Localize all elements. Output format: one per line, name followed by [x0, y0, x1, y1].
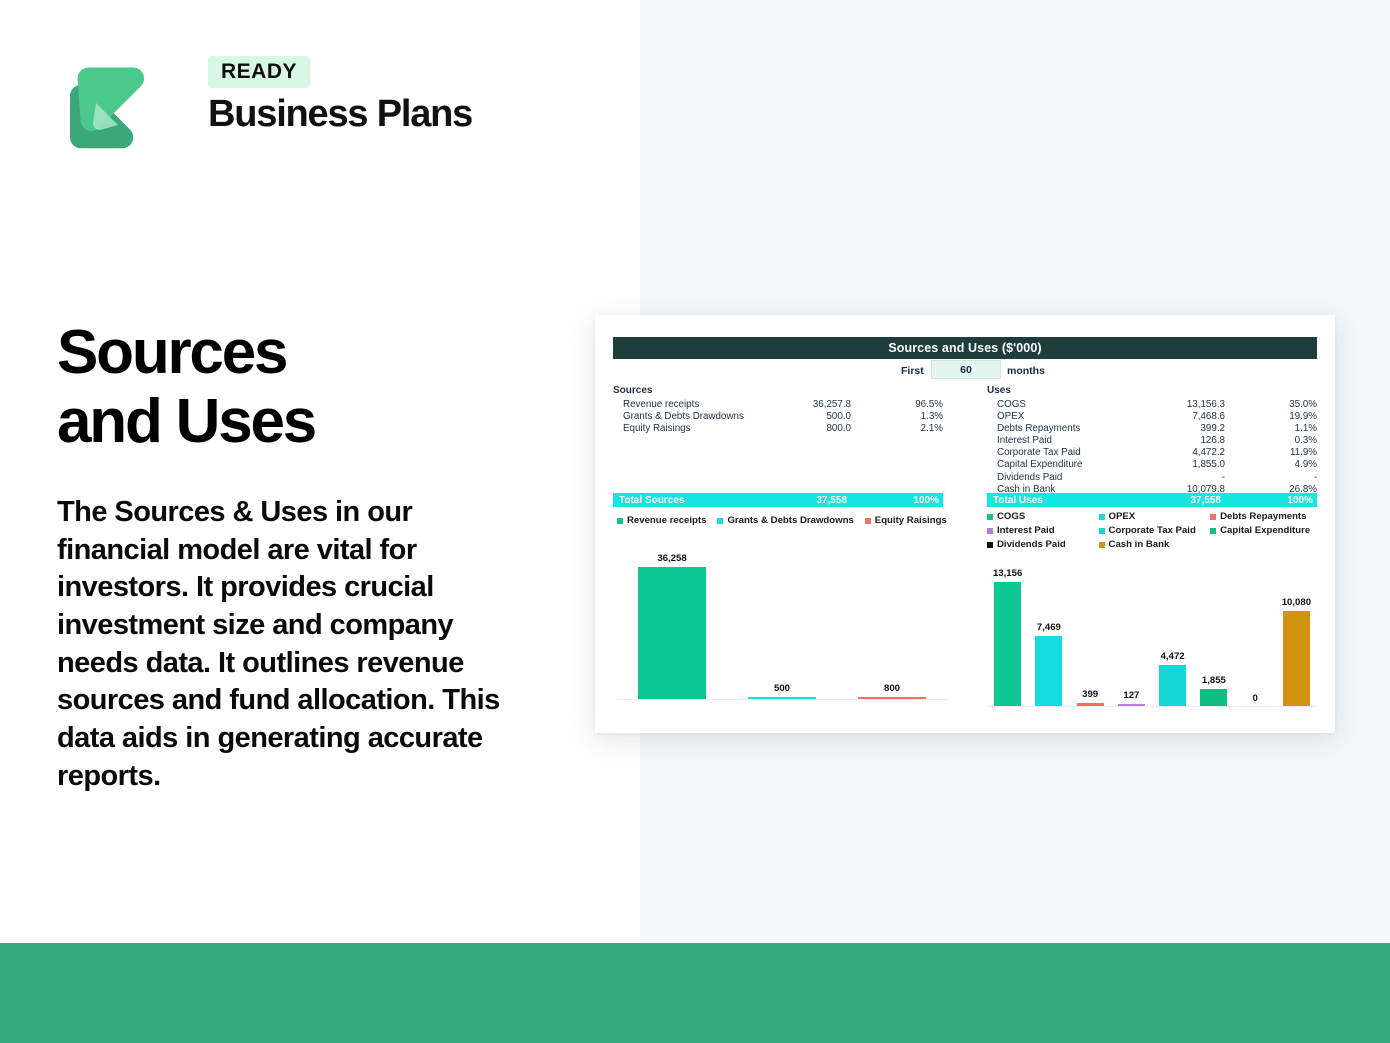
legend-swatch-icon [987, 528, 993, 534]
total-sources-row: Total Sources 37,558 100% [613, 493, 943, 507]
bar-column: 800 [837, 550, 947, 700]
sources-table: Sources Revenue receipts36,257.896.5%Gra… [613, 385, 943, 435]
legend-label: Capital Expenditure [1220, 525, 1310, 536]
row-value: 800.0 [793, 423, 903, 435]
bar [1283, 611, 1310, 707]
legend-item: Revenue receipts [617, 515, 706, 526]
legend-label: Equity Raisings [875, 515, 947, 526]
row-pct: - [1277, 472, 1317, 484]
bar-column: 36,258 [617, 550, 727, 700]
legend-swatch-icon [1099, 528, 1105, 534]
uses-table: Uses COGS13,156.335.0%OPEX7,468.619.9%De… [987, 385, 1317, 496]
bar-value-label: 1,855 [1202, 675, 1226, 686]
period-first-label: First [901, 365, 924, 377]
uses-bar-chart: 13,1567,4693991274,4721,855010,080 [987, 547, 1317, 707]
uses-table-header: Uses [987, 385, 1317, 396]
months-input[interactable]: 60 [931, 360, 1001, 379]
legend-label: Interest Paid [997, 525, 1055, 536]
page-title-line1: Sources [57, 318, 577, 387]
uses-chart-axis [987, 706, 1317, 707]
bar-column: 10,080 [1276, 557, 1317, 707]
row-value: 399.2 [1167, 423, 1277, 435]
row-name: OPEX [987, 411, 1167, 423]
brand-name: Business Plans [208, 95, 498, 135]
total-uses-pct: 100% [1273, 495, 1317, 506]
legend-item: Debts Repayments [1210, 511, 1322, 522]
total-sources-pct: 100% [899, 495, 943, 506]
bar-value-label: 10,080 [1282, 597, 1311, 608]
bar-column: 399 [1070, 557, 1111, 707]
bar-value-label: 0 [1252, 693, 1257, 704]
bar-value-label: 800 [884, 683, 900, 694]
legend-swatch-icon [1210, 528, 1216, 534]
table-row: Equity Raisings800.02.1% [613, 423, 943, 435]
row-value: 500.0 [793, 411, 903, 423]
spreadsheet: Sources and Uses ($'000) First 60 months… [595, 315, 1335, 733]
bar-value-label: 127 [1123, 690, 1139, 701]
legend-label: OPEX [1109, 511, 1136, 522]
row-name: Debts Repayments [987, 423, 1167, 435]
bar [1159, 665, 1186, 707]
row-value: - [1167, 472, 1277, 484]
legend-swatch-icon [987, 514, 993, 520]
table-row: Capital Expenditure1,855.04.9% [987, 459, 1317, 471]
brand-logo[interactable]: READY Business Plans [56, 56, 456, 166]
table-row: Corporate Tax Paid4,472.211.9% [987, 447, 1317, 459]
bar-value-label: 500 [774, 683, 790, 694]
period-months-label: months [1007, 365, 1045, 377]
row-name: Interest Paid [987, 435, 1167, 447]
row-value: 126.8 [1167, 435, 1277, 447]
row-pct: 2.1% [903, 423, 943, 435]
legend-swatch-icon [1210, 514, 1216, 520]
bar [638, 567, 706, 700]
legend-item: Equity Raisings [865, 515, 947, 526]
page-title: Sources and Uses [57, 318, 577, 457]
sources-and-uses-card: Sources and Uses ($'000) First 60 months… [595, 315, 1335, 733]
legend-item: Interest Paid [987, 525, 1099, 536]
row-name: Corporate Tax Paid [987, 447, 1167, 459]
legend-swatch-icon [865, 518, 871, 524]
legend-item: Capital Expenditure [1210, 525, 1322, 536]
sheet-title-bar: Sources and Uses ($'000) [613, 337, 1317, 359]
bar-value-label: 399 [1082, 689, 1098, 700]
row-pct: 1.1% [1277, 423, 1317, 435]
bar [994, 582, 1021, 707]
legend-swatch-icon [617, 518, 623, 524]
bar [1035, 636, 1062, 707]
bar [1200, 689, 1227, 707]
bar-column: 500 [727, 550, 837, 700]
bar-column: 7,469 [1028, 557, 1069, 707]
legend-label: Debts Repayments [1220, 511, 1306, 522]
table-row: OPEX7,468.619.9% [987, 411, 1317, 423]
page-title-line2: and Uses [57, 387, 577, 456]
row-value: 1,855.0 [1167, 459, 1277, 471]
row-name: Grants & Debts Drawdowns [613, 411, 793, 423]
legend-label: Revenue receipts [627, 515, 706, 526]
row-name: Dividends Paid [987, 472, 1167, 484]
total-uses-value: 37,558 [1163, 495, 1273, 506]
bar-value-label: 13,156 [993, 568, 1022, 579]
sources-chart-axis [617, 699, 947, 700]
bar-column: 0 [1235, 557, 1276, 707]
legend-swatch-icon [1099, 514, 1105, 520]
row-pct: 11.9% [1277, 447, 1317, 459]
ready-badge: READY [208, 56, 310, 88]
legend-swatch-icon [717, 518, 723, 524]
table-row: Grants & Debts Drawdowns500.01.3% [613, 411, 943, 423]
page-description: The Sources & Uses in our financial mode… [57, 494, 512, 796]
row-value: 7,468.6 [1167, 411, 1277, 423]
row-name: COGS [987, 399, 1167, 411]
row-pct: 35.0% [1277, 399, 1317, 411]
row-name: Equity Raisings [613, 423, 793, 435]
table-row: Revenue receipts36,257.896.5% [613, 399, 943, 411]
row-pct: 4.9% [1277, 459, 1317, 471]
row-value: 13,156.3 [1167, 399, 1277, 411]
bar-value-label: 36,258 [657, 553, 686, 564]
bottom-green-band [0, 943, 1390, 1043]
total-uses-row: Total Uses 37,558 100% [987, 493, 1317, 507]
legend-item: COGS [987, 511, 1099, 522]
legend-item: Grants & Debts Drawdowns [717, 515, 853, 526]
sources-bar-chart: 36,258500800 [617, 540, 947, 700]
row-pct: 0.3% [1277, 435, 1317, 447]
row-pct: 19.9% [1277, 411, 1317, 423]
sources-chart-legend: Revenue receiptsGrants & Debts Drawdowns… [617, 515, 957, 526]
bar-column: 4,472 [1152, 557, 1193, 707]
play-logo-icon [56, 58, 156, 158]
row-value: 36,257.8 [793, 399, 903, 411]
table-row: Debts Repayments399.21.1% [987, 423, 1317, 435]
legend-item: Corporate Tax Paid [1099, 525, 1211, 536]
table-row: Dividends Paid-- [987, 472, 1317, 484]
table-row: COGS13,156.335.0% [987, 399, 1317, 411]
legend-label: Corporate Tax Paid [1109, 525, 1196, 536]
row-name: Revenue receipts [613, 399, 793, 411]
legend-label: Grants & Debts Drawdowns [727, 515, 853, 526]
legend-label: COGS [997, 511, 1025, 522]
sources-table-header: Sources [613, 385, 943, 396]
bar-value-label: 7,469 [1037, 622, 1061, 633]
row-name: Capital Expenditure [987, 459, 1167, 471]
row-pct: 1.3% [903, 411, 943, 423]
legend-item: OPEX [1099, 511, 1211, 522]
row-pct: 96.5% [903, 399, 943, 411]
bar-column: 1,855 [1193, 557, 1234, 707]
bar-column: 127 [1111, 557, 1152, 707]
table-row: Interest Paid126.80.3% [987, 435, 1317, 447]
bar-column: 13,156 [987, 557, 1028, 707]
row-value: 4,472.2 [1167, 447, 1277, 459]
total-sources-value: 37,558 [789, 495, 899, 506]
total-sources-label: Total Sources [613, 495, 789, 506]
total-uses-label: Total Uses [987, 495, 1163, 506]
bar-value-label: 4,472 [1161, 651, 1185, 662]
